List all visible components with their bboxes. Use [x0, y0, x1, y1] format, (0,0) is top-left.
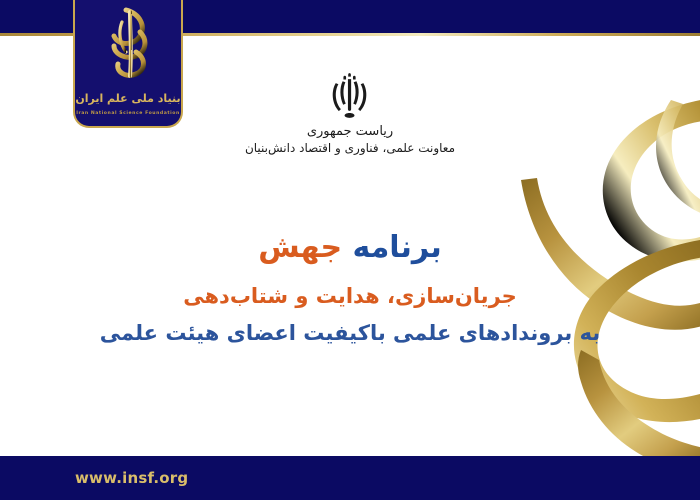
bottom-bar: www.insf.org	[0, 456, 700, 500]
poster-canvas: بنیاد ملی علم ایران Iran National Scienc…	[0, 0, 700, 500]
title-word-blue: برنامه	[353, 230, 442, 265]
website-url-link[interactable]: www.insf.org	[75, 469, 188, 487]
subtitle-primary: جریان‌سازی، هدایت و شتاب‌دهی	[0, 281, 700, 313]
headline-block: برنامه جهش جریان‌سازی، هدایت و شتاب‌دهی …	[0, 228, 700, 350]
logo-badge: بنیاد ملی علم ایران Iran National Scienc…	[73, 0, 183, 128]
logo-english-name: Iran National Science Foundation	[75, 112, 181, 117]
logo-persian-name: بنیاد ملی علم ایران	[75, 93, 181, 104]
insf-calligraphy-icon	[75, 6, 181, 82]
iran-national-emblem-icon	[323, 72, 376, 118]
emblem-line-ministry: معاونت علمی، فناوری و اقتصاد دانش‌بنیان	[0, 140, 700, 156]
title-word-orange: جهش	[258, 230, 342, 265]
page-title: برنامه جهش	[0, 228, 700, 269]
subtitle-secondary: به برونداد‌های علمی باکیفیت اعضای هیئت ع…	[0, 318, 700, 350]
